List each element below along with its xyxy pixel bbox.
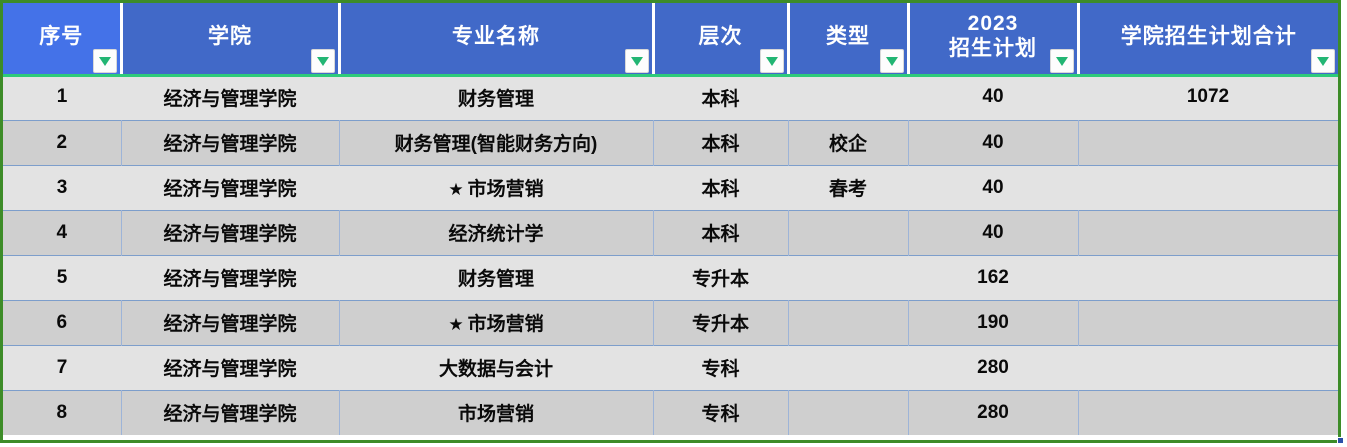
header-row: 序号 学院 专业名称	[3, 3, 1338, 75]
cell-plan2023[interactable]: 190	[908, 300, 1078, 345]
cell-level[interactable]: 本科	[653, 120, 788, 165]
cell-level[interactable]: 专科	[653, 345, 788, 390]
cell-seq[interactable]: 6	[3, 300, 121, 345]
enrollment-plan-table: 序号 学院 专业名称	[3, 3, 1338, 435]
star-marker-icon: ★	[448, 315, 463, 334]
column-header-level[interactable]: 层次	[653, 3, 788, 75]
column-header-type-label: 类型	[790, 25, 907, 50]
cell-collegesum[interactable]	[1078, 390, 1338, 435]
cell-plan2023[interactable]: 280	[908, 345, 1078, 390]
cell-seq[interactable]: 3	[3, 165, 121, 210]
cell-college[interactable]: 经济与管理学院	[121, 390, 339, 435]
table-header: 序号 学院 专业名称	[3, 3, 1338, 75]
cell-college[interactable]: 经济与管理学院	[121, 75, 339, 120]
cell-plan2023[interactable]: 40	[908, 75, 1078, 120]
filter-dropdown-icon-level[interactable]	[760, 49, 784, 73]
cell-level[interactable]: 本科	[653, 165, 788, 210]
table-row: 6经济与管理学院★市场营销专升本190	[3, 300, 1338, 345]
cell-type[interactable]	[788, 75, 908, 120]
cell-collegesum[interactable]	[1078, 165, 1338, 210]
table-row: 3经济与管理学院★市场营销本科春考40	[3, 165, 1338, 210]
filter-dropdown-icon-seq[interactable]	[93, 49, 117, 73]
column-header-major[interactable]: 专业名称	[339, 3, 653, 75]
cell-type[interactable]	[788, 255, 908, 300]
table-body: 1经济与管理学院财务管理本科4010722经济与管理学院财务管理(智能财务方向)…	[3, 75, 1338, 435]
cell-major[interactable]: 财务管理	[339, 75, 653, 120]
selection-fill-handle[interactable]	[1337, 437, 1344, 444]
cell-type[interactable]	[788, 300, 908, 345]
column-header-plan2023[interactable]: 2023 招生计划	[908, 3, 1078, 75]
table-row: 8经济与管理学院市场营销专科280	[3, 390, 1338, 435]
cell-plan2023[interactable]: 40	[908, 165, 1078, 210]
cell-type[interactable]	[788, 210, 908, 255]
cell-collegesum[interactable]	[1078, 210, 1338, 255]
cell-level[interactable]: 专升本	[653, 255, 788, 300]
cell-type[interactable]	[788, 390, 908, 435]
cell-level[interactable]: 专升本	[653, 300, 788, 345]
cell-college[interactable]: 经济与管理学院	[121, 120, 339, 165]
column-header-seq[interactable]: 序号	[3, 3, 121, 75]
cell-plan2023[interactable]: 162	[908, 255, 1078, 300]
table-row: 1经济与管理学院财务管理本科401072	[3, 75, 1338, 120]
cell-type[interactable]	[788, 345, 908, 390]
column-header-college[interactable]: 学院	[121, 3, 339, 75]
cell-college[interactable]: 经济与管理学院	[121, 300, 339, 345]
star-marker-icon: ★	[448, 180, 463, 199]
table-row: 2经济与管理学院财务管理(智能财务方向)本科校企40	[3, 120, 1338, 165]
cell-college[interactable]: 经济与管理学院	[121, 345, 339, 390]
cell-plan2023[interactable]: 40	[908, 120, 1078, 165]
cell-plan2023[interactable]: 40	[908, 210, 1078, 255]
cell-major[interactable]: 经济统计学	[339, 210, 653, 255]
column-header-college-label: 学院	[123, 25, 338, 50]
cell-collegesum[interactable]: 1072	[1078, 75, 1338, 120]
cell-type[interactable]: 校企	[788, 120, 908, 165]
cell-collegesum[interactable]	[1078, 300, 1338, 345]
cell-college[interactable]: 经济与管理学院	[121, 210, 339, 255]
column-header-collegesum-label: 学院招生计划合计	[1080, 25, 1339, 50]
filter-dropdown-icon-college[interactable]	[311, 49, 335, 73]
cell-level[interactable]: 专科	[653, 390, 788, 435]
filter-dropdown-icon-collegesum[interactable]	[1311, 49, 1335, 73]
table-row: 5经济与管理学院财务管理专升本162	[3, 255, 1338, 300]
cell-level[interactable]: 本科	[653, 210, 788, 255]
cell-plan2023[interactable]: 280	[908, 390, 1078, 435]
column-header-type[interactable]: 类型	[788, 3, 908, 75]
cell-seq[interactable]: 4	[3, 210, 121, 255]
table-row: 4经济与管理学院经济统计学本科40	[3, 210, 1338, 255]
cell-seq[interactable]: 7	[3, 345, 121, 390]
cell-collegesum[interactable]	[1078, 120, 1338, 165]
cell-major[interactable]: ★市场营销	[339, 165, 653, 210]
column-header-major-label: 专业名称	[341, 25, 652, 50]
filter-dropdown-icon-plan2023[interactable]	[1050, 49, 1074, 73]
cell-level[interactable]: 本科	[653, 75, 788, 120]
cell-seq[interactable]: 1	[3, 75, 121, 120]
filter-dropdown-icon-type[interactable]	[880, 49, 904, 73]
spreadsheet-canvas: 序号 学院 专业名称	[0, 0, 1347, 447]
column-header-collegesum[interactable]: 学院招生计划合计	[1078, 3, 1338, 75]
column-header-level-label: 层次	[655, 25, 787, 50]
cell-seq[interactable]: 5	[3, 255, 121, 300]
cell-seq[interactable]: 2	[3, 120, 121, 165]
table-row: 7经济与管理学院大数据与会计专科280	[3, 345, 1338, 390]
cell-major[interactable]: 财务管理	[339, 255, 653, 300]
cell-college[interactable]: 经济与管理学院	[121, 255, 339, 300]
cell-college[interactable]: 经济与管理学院	[121, 165, 339, 210]
cell-major[interactable]: 市场营销	[339, 390, 653, 435]
cell-collegesum[interactable]	[1078, 345, 1338, 390]
column-header-plan2023-label-year: 2023	[910, 12, 1077, 37]
cell-major[interactable]: 财务管理(智能财务方向)	[339, 120, 653, 165]
cell-major[interactable]: ★市场营销	[339, 300, 653, 345]
filter-dropdown-icon-major[interactable]	[625, 49, 649, 73]
column-header-seq-label: 序号	[3, 25, 120, 50]
cell-major[interactable]: 大数据与会计	[339, 345, 653, 390]
cell-collegesum[interactable]	[1078, 255, 1338, 300]
cell-seq[interactable]: 8	[3, 390, 121, 435]
cell-type[interactable]: 春考	[788, 165, 908, 210]
